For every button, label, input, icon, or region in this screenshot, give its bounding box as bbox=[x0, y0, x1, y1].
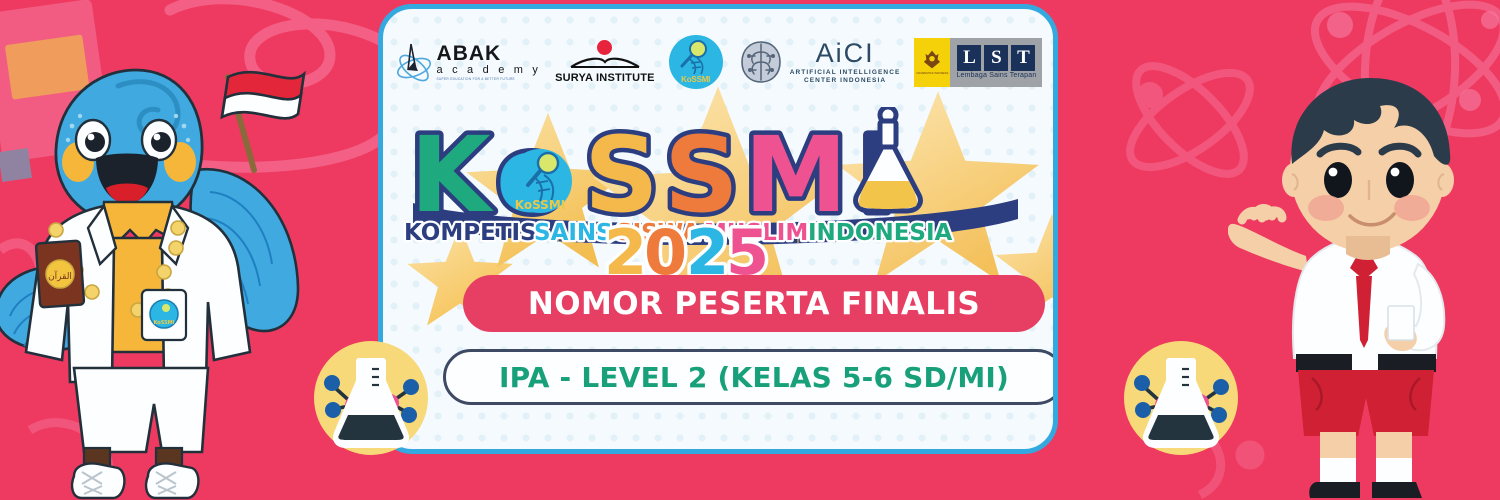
boy-shoe-right bbox=[1372, 482, 1422, 498]
abak-academy-logo: ABAK a c a d e m y SUPER EDUCATION FOR A… bbox=[394, 40, 542, 84]
tagline-kompetisi: KOMPETISI bbox=[404, 220, 545, 246]
abak-name: ABAK bbox=[437, 43, 542, 64]
boy-eye-left bbox=[1324, 162, 1352, 198]
kossmi-circle-logo: KoSSMI bbox=[669, 35, 723, 89]
lst-letters: L S T bbox=[957, 45, 1035, 71]
headline-label: NOMOR PESERTA FINALIS bbox=[528, 286, 980, 322]
year-digit-4: 5 bbox=[726, 216, 769, 277]
surya-sun-icon bbox=[597, 40, 612, 55]
kossmi-wordmark-graphic: K o S S M I KoSSMI bbox=[388, 107, 1048, 277]
year-digit-2: 0 bbox=[644, 216, 687, 277]
year-digit-1: 2 bbox=[604, 216, 647, 277]
kossmi-circle-label: KoSSMI bbox=[681, 75, 710, 84]
boy-waving-arm bbox=[1228, 224, 1308, 272]
abak-sub: a c a d e m y bbox=[437, 65, 542, 76]
boy-head bbox=[1282, 78, 1454, 260]
subject-label: IPA - LEVEL 2 (KELAS 5-6 SD/MI) bbox=[499, 361, 1009, 394]
bird-shoes bbox=[72, 464, 198, 499]
abak-tagline: SUPER EDUCATION FOR A BETTER FUTURE bbox=[437, 78, 542, 81]
lst-mark: L S T Lembaga Sains Terapan bbox=[950, 38, 1042, 87]
surya-book-icon bbox=[569, 56, 641, 70]
flask-badge-left bbox=[312, 337, 430, 459]
nomor-peserta-finalis-banner[interactable]: NOMOR PESERTA FINALIS bbox=[463, 275, 1045, 332]
lst-letter-l: L bbox=[957, 45, 981, 71]
lst-sub: Lembaga Sains Terapan bbox=[956, 72, 1036, 79]
surya-institute-logo: SURYA INSTITUTE bbox=[555, 40, 655, 84]
boy-hand bbox=[1242, 209, 1282, 221]
boy-shoe-left bbox=[1309, 482, 1360, 498]
emblem-label: KoSSMI bbox=[515, 198, 565, 212]
makara-seal-icon bbox=[922, 49, 942, 70]
svg-text:القرآن: القرآن bbox=[48, 270, 72, 282]
boy-eye-right bbox=[1386, 162, 1414, 198]
aici-line2: CENTER INDONESIA bbox=[790, 78, 901, 85]
svg-text:KoSSMI: KoSSMI bbox=[153, 320, 174, 326]
kossmi-wordmark: K o S S M I KoSSMI bbox=[383, 107, 1053, 282]
boy-sock-left bbox=[1320, 458, 1356, 484]
aici-line1: ARTIFICIAL INTELLIGENCE bbox=[790, 70, 901, 77]
kossmi-emblem-icon: KoSSMI bbox=[508, 149, 572, 213]
bird-pants bbox=[74, 368, 208, 452]
partner-logo-row: ABAK a c a d e m y SUPER EDUCATION FOR A… bbox=[383, 35, 1053, 89]
boy-sock-right bbox=[1376, 458, 1412, 484]
aici-name: AiCI bbox=[790, 40, 901, 67]
wordmark-letter-k: K bbox=[410, 114, 494, 236]
lst-logo: UNIVERSITAS INDONESIA L S T Lembaga Sain… bbox=[914, 38, 1042, 87]
main-card: ABAK a c a d e m y SUPER EDUCATION FOR A… bbox=[378, 4, 1058, 454]
quran-book-icon: القرآن bbox=[36, 241, 84, 308]
year-digit-3: 2 bbox=[686, 216, 729, 277]
universitas-indonesia-seal: UNIVERSITAS INDONESIA bbox=[914, 38, 950, 87]
lst-letter-s: S bbox=[984, 45, 1008, 71]
flask-badge-right bbox=[1122, 337, 1240, 459]
aici-logo: AiCI ARTIFICIAL INTELLIGENCE CENTER INDO… bbox=[737, 38, 901, 86]
boy-shirt-pocket bbox=[1388, 306, 1414, 340]
bird-mascot: KoSSMI القرآن bbox=[0, 52, 316, 500]
abak-atom-icon bbox=[394, 40, 434, 84]
boy-shorts bbox=[1298, 370, 1434, 436]
indonesian-flag-icon bbox=[222, 72, 304, 170]
tagline-indonesia: INDONESIA bbox=[808, 220, 953, 246]
kossmi-magnifier-dna-icon bbox=[677, 40, 717, 76]
aici-brain-icon bbox=[737, 38, 785, 86]
tagline-sains: SAINS bbox=[534, 220, 613, 246]
lst-letter-t: T bbox=[1011, 45, 1035, 71]
boy-mascot bbox=[1228, 58, 1500, 500]
ui-seal-label: UNIVERSITAS INDONESIA bbox=[916, 72, 948, 75]
surya-name: SURYA INSTITUTE bbox=[555, 72, 655, 84]
subject-level-pill[interactable]: IPA - LEVEL 2 (KELAS 5-6 SD/MI) bbox=[443, 349, 1058, 405]
